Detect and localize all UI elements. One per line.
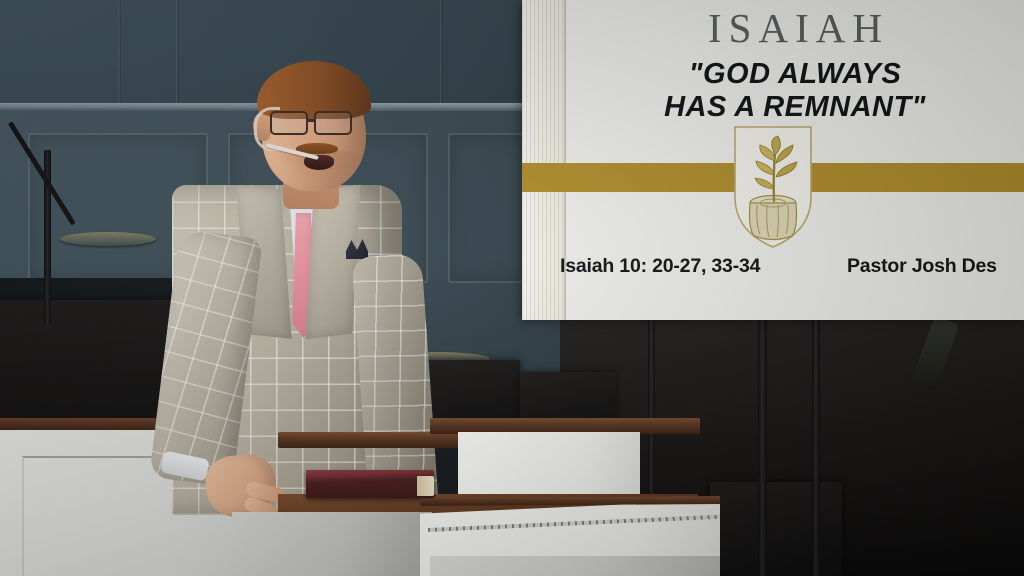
video-frame: ISAIAH "GOD ALWAYS HAS A REMNANT": [0, 0, 1024, 576]
slide-scripture-reference: Isaiah 10: 20-27, 33-34: [560, 255, 760, 278]
pulpit-upper-panel: [458, 432, 640, 494]
eyeglasses-lens-right: [314, 111, 352, 135]
pulpit-base: [430, 556, 720, 576]
pulpit-body: [232, 512, 432, 576]
microphone-stand: [812, 310, 820, 576]
bible: [306, 470, 434, 498]
tree-stump-with-new-shoot-shield-icon: [731, 125, 815, 250]
pulpit-upper-rail: [278, 432, 478, 448]
bible-page-edges: [417, 476, 434, 496]
microphone-stand: [758, 318, 767, 576]
slide-sermon-title-line-2: HAS A REMNANT": [566, 91, 1024, 124]
eyeglasses-bridge: [307, 119, 315, 122]
sermon-title-slide: ISAIAH "GOD ALWAYS HAS A REMNANT": [522, 0, 1024, 320]
slide-sermon-title-line-1: "GOD ALWAYS: [566, 58, 1024, 91]
slide-book-title: ISAIAH: [566, 8, 1024, 49]
slide-sermon-title: "GOD ALWAYS HAS A REMNANT": [566, 58, 1024, 124]
cymbal: [60, 232, 156, 246]
speaker-cabinet: [710, 482, 842, 576]
slide-speaker-name: Pastor Josh Des: [847, 255, 997, 278]
